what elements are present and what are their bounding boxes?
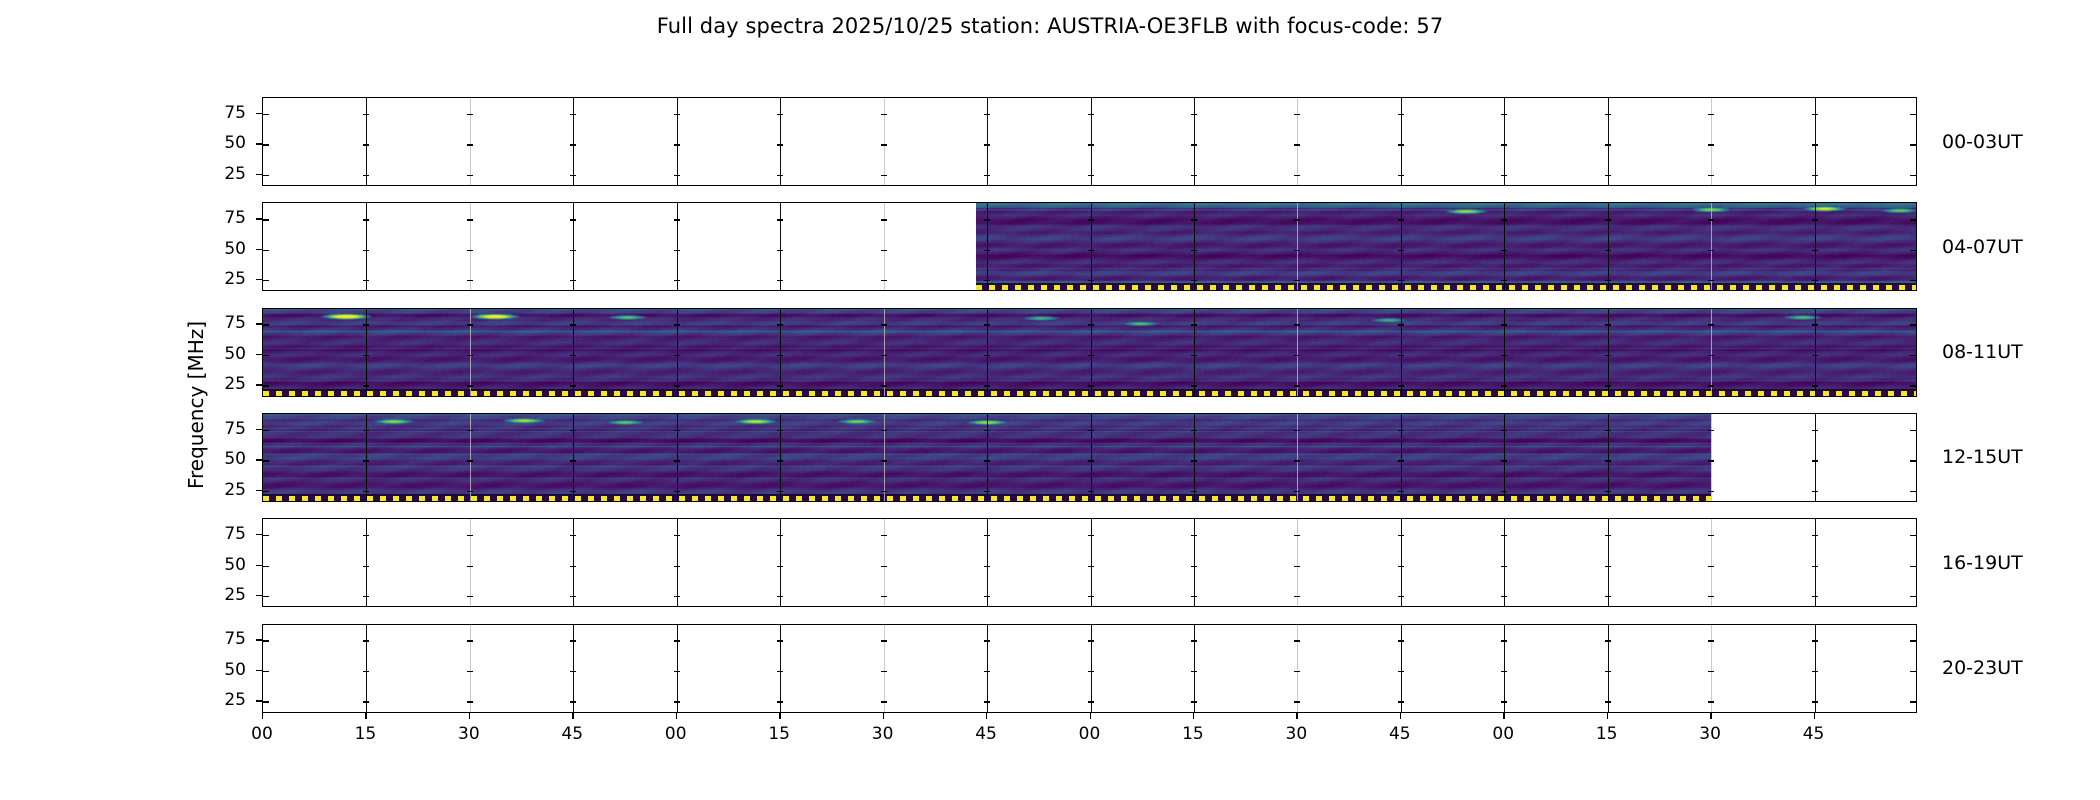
plot-axes (262, 202, 1917, 291)
grid-line-vertical (1504, 625, 1505, 712)
y-tick-inner (1910, 640, 1916, 641)
grid-tick-stub (1605, 430, 1611, 431)
y-tick-inner (1910, 114, 1916, 115)
grid-tick-stub (1294, 430, 1300, 431)
grid-tick-stub (674, 324, 680, 325)
grid-tick-stub (1191, 566, 1197, 567)
grid-tick-stub (1191, 460, 1197, 461)
grid-line-vertical (1815, 309, 1816, 396)
y-tick-mark (256, 595, 262, 596)
grid-tick-stub (1501, 596, 1507, 597)
grid-tick-stub (1294, 385, 1300, 386)
grid-line-vertical (1608, 203, 1609, 290)
y-tick-label: 75 (204, 524, 246, 544)
grid-tick-stub (1605, 671, 1611, 672)
grid-tick-stub (1501, 175, 1507, 176)
grid-tick-stub (1398, 250, 1404, 251)
grid-tick-stub (1398, 385, 1404, 386)
row-time-label: 12-15UT (1942, 446, 2023, 468)
grid-tick-stub (1708, 219, 1714, 220)
y-tick-inner (263, 324, 269, 325)
grid-tick-stub (570, 250, 576, 251)
grid-line-vertical (1608, 625, 1609, 712)
grid-line-vertical (987, 98, 988, 185)
grid-tick-stub (570, 385, 576, 386)
grid-tick-stub (1191, 535, 1197, 536)
x-tick-label: 15 (1596, 724, 1618, 744)
y-tick-label: 25 (204, 690, 246, 710)
grid-tick-stub (881, 144, 887, 145)
grid-tick-stub (1501, 385, 1507, 386)
grid-tick-stub (674, 535, 680, 536)
x-tick-label: 00 (1492, 724, 1514, 744)
grid-line-vertical (573, 98, 574, 185)
grid-line-vertical (677, 203, 678, 290)
grid-tick-stub (570, 114, 576, 115)
row-time-label: 08-11UT (1942, 341, 2023, 363)
grid-tick-stub (1501, 219, 1507, 220)
y-tick-mark (256, 429, 262, 430)
grid-line-vertical (677, 309, 678, 396)
grid-tick-stub (570, 701, 576, 702)
y-tick-inner (263, 566, 269, 567)
y-tick-mark (256, 670, 262, 671)
grid-tick-stub (570, 144, 576, 145)
grid-tick-stub (1294, 566, 1300, 567)
row-time-label: 20-23UT (1942, 657, 2023, 679)
grid-line-vertical (1297, 414, 1298, 501)
grid-tick-stub (1708, 596, 1714, 597)
grid-line-vertical (1608, 98, 1609, 185)
grid-tick-stub (1605, 280, 1611, 281)
grid-tick-stub (363, 144, 369, 145)
grid-tick-stub (984, 671, 990, 672)
x-tick-mark (572, 713, 573, 719)
grid-tick-stub (881, 324, 887, 325)
x-tick-mark (1400, 713, 1401, 719)
x-tick-mark (779, 713, 780, 719)
grid-tick-stub (363, 175, 369, 176)
y-tick-label: 50 (204, 555, 246, 575)
grid-line-vertical (884, 309, 885, 396)
grid-tick-stub (1605, 535, 1611, 536)
grid-tick-stub (984, 460, 990, 461)
y-tick-inner (263, 219, 269, 220)
grid-tick-stub (1501, 114, 1507, 115)
grid-tick-stub (881, 250, 887, 251)
grid-tick-stub (1294, 671, 1300, 672)
grid-tick-stub (777, 324, 783, 325)
y-tick-inner (1910, 144, 1916, 145)
grid-tick-stub (984, 324, 990, 325)
x-tick-mark (986, 713, 987, 719)
grid-tick-stub (1708, 640, 1714, 641)
grid-tick-stub (570, 460, 576, 461)
x-tick-label: 15 (1182, 724, 1204, 744)
grid-tick-stub (881, 596, 887, 597)
grid-tick-stub (570, 491, 576, 492)
grid-tick-stub (1294, 460, 1300, 461)
grid-tick-stub (674, 114, 680, 115)
spectrogram-row-12-15ut (262, 413, 1917, 502)
grid-line-vertical (1401, 625, 1402, 712)
grid-tick-stub (1294, 250, 1300, 251)
grid-tick-stub (363, 324, 369, 325)
grid-tick-stub (1294, 535, 1300, 536)
grid-tick-stub (1191, 250, 1197, 251)
y-tick-mark (256, 279, 262, 280)
grid-tick-stub (467, 596, 473, 597)
y-tick-inner (263, 355, 269, 356)
grid-tick-stub (1191, 219, 1197, 220)
grid-tick-stub (1812, 355, 1818, 356)
grid-tick-stub (1812, 385, 1818, 386)
grid-tick-stub (1088, 701, 1094, 702)
spectrogram-row-04-07ut (262, 202, 1917, 291)
x-tick-mark (1090, 713, 1091, 719)
grid-tick-stub (1812, 640, 1818, 641)
grid-tick-stub (467, 385, 473, 386)
grid-tick-stub (1398, 701, 1404, 702)
grid-tick-stub (674, 280, 680, 281)
y-tick-label: 75 (204, 419, 246, 439)
x-tick-mark (1607, 713, 1608, 719)
grid-line-vertical (1401, 98, 1402, 185)
grid-tick-stub (1088, 355, 1094, 356)
grid-tick-stub (777, 491, 783, 492)
grid-tick-stub (1605, 355, 1611, 356)
grid-tick-stub (363, 671, 369, 672)
grid-line-vertical (987, 203, 988, 290)
grid-line-vertical (780, 519, 781, 606)
y-tick-inner (1910, 701, 1916, 702)
grid-line-vertical (573, 414, 574, 501)
grid-tick-stub (1088, 640, 1094, 641)
calibration-dash-band (976, 285, 1917, 290)
y-tick-inner (263, 640, 269, 641)
grid-line-vertical (1608, 414, 1609, 501)
y-tick-inner (263, 114, 269, 115)
grid-tick-stub (1088, 385, 1094, 386)
grid-tick-stub (674, 701, 680, 702)
grid-tick-stub (881, 175, 887, 176)
grid-tick-stub (1501, 250, 1507, 251)
grid-tick-stub (984, 144, 990, 145)
grid-line-vertical (1815, 203, 1816, 290)
grid-line-vertical (1297, 309, 1298, 396)
y-tick-inner (1910, 250, 1916, 251)
grid-line-vertical (1194, 309, 1195, 396)
grid-tick-stub (1191, 280, 1197, 281)
grid-tick-stub (1708, 355, 1714, 356)
y-tick-mark (256, 700, 262, 701)
grid-tick-stub (1501, 144, 1507, 145)
grid-tick-stub (1294, 144, 1300, 145)
y-tick-mark (256, 323, 262, 324)
grid-line-vertical (677, 625, 678, 712)
grid-tick-stub (1605, 144, 1611, 145)
y-tick-inner (1910, 596, 1916, 597)
grid-tick-stub (1294, 219, 1300, 220)
grid-tick-stub (1812, 491, 1818, 492)
spectrogram-row-08-11ut (262, 308, 1917, 397)
y-tick-mark (256, 143, 262, 144)
grid-line-vertical (573, 309, 574, 396)
y-tick-label: 50 (204, 239, 246, 259)
grid-tick-stub (570, 671, 576, 672)
grid-tick-stub (674, 430, 680, 431)
grid-line-vertical (1608, 519, 1609, 606)
grid-tick-stub (1708, 671, 1714, 672)
grid-tick-stub (1398, 144, 1404, 145)
grid-tick-stub (467, 175, 473, 176)
x-tick-mark (1814, 713, 1815, 719)
grid-tick-stub (881, 701, 887, 702)
grid-tick-stub (570, 640, 576, 641)
grid-tick-stub (467, 430, 473, 431)
plot-axes (262, 97, 1917, 186)
y-tick-inner (1910, 460, 1916, 461)
plot-axes (262, 413, 1917, 502)
y-tick-inner (263, 144, 269, 145)
grid-tick-stub (1191, 701, 1197, 702)
x-tick-label: 45 (1389, 724, 1411, 744)
y-tick-mark (256, 384, 262, 385)
grid-tick-stub (1398, 324, 1404, 325)
grid-tick-stub (1191, 640, 1197, 641)
x-tick-label: 30 (1286, 724, 1308, 744)
grid-tick-stub (1088, 535, 1094, 536)
grid-tick-stub (1605, 175, 1611, 176)
grid-line-vertical (987, 309, 988, 396)
grid-tick-stub (674, 566, 680, 567)
grid-line-vertical (1711, 625, 1712, 712)
grid-tick-stub (1605, 460, 1611, 461)
y-tick-inner (1910, 280, 1916, 281)
y-tick-mark (256, 565, 262, 566)
grid-line-vertical (884, 203, 885, 290)
grid-tick-stub (881, 280, 887, 281)
grid-line-vertical (366, 414, 367, 501)
grid-tick-stub (467, 460, 473, 461)
grid-tick-stub (1605, 324, 1611, 325)
grid-line-vertical (1401, 309, 1402, 396)
grid-line-vertical (470, 203, 471, 290)
grid-line-vertical (1504, 519, 1505, 606)
grid-tick-stub (881, 219, 887, 220)
grid-tick-stub (1708, 566, 1714, 567)
x-tick-mark (262, 713, 263, 719)
grid-tick-stub (1812, 671, 1818, 672)
grid-tick-stub (1708, 701, 1714, 702)
grid-tick-stub (1191, 175, 1197, 176)
y-tick-inner (263, 491, 269, 492)
grid-line-vertical (470, 309, 471, 396)
grid-tick-stub (570, 219, 576, 220)
grid-tick-stub (1294, 114, 1300, 115)
grid-tick-stub (467, 701, 473, 702)
grid-line-vertical (573, 203, 574, 290)
grid-line-vertical (780, 625, 781, 712)
grid-tick-stub (984, 701, 990, 702)
y-tick-inner (1910, 491, 1916, 492)
grid-tick-stub (1605, 385, 1611, 386)
plot-axes (262, 308, 1917, 397)
grid-tick-stub (1501, 355, 1507, 356)
grid-tick-stub (1501, 566, 1507, 567)
grid-tick-stub (1191, 491, 1197, 492)
grid-tick-stub (674, 250, 680, 251)
grid-tick-stub (1191, 596, 1197, 597)
x-tick-label: 15 (768, 724, 790, 744)
grid-line-vertical (1711, 98, 1712, 185)
y-tick-mark (256, 534, 262, 535)
grid-tick-stub (1812, 324, 1818, 325)
y-tick-label: 50 (204, 133, 246, 153)
grid-tick-stub (881, 385, 887, 386)
grid-tick-stub (984, 535, 990, 536)
grid-tick-stub (984, 596, 990, 597)
grid-tick-stub (1501, 671, 1507, 672)
grid-tick-stub (984, 219, 990, 220)
grid-line-vertical (780, 203, 781, 290)
plot-axes (262, 518, 1917, 607)
y-tick-label: 25 (204, 164, 246, 184)
spectrogram-data (976, 203, 1917, 290)
grid-tick-stub (1294, 280, 1300, 281)
y-tick-inner (1910, 535, 1916, 536)
y-tick-mark (256, 459, 262, 460)
grid-tick-stub (674, 596, 680, 597)
y-tick-inner (1910, 566, 1916, 567)
grid-tick-stub (467, 640, 473, 641)
y-tick-mark (256, 490, 262, 491)
x-tick-mark (883, 713, 884, 719)
grid-tick-stub (1812, 430, 1818, 431)
grid-line-vertical (366, 98, 367, 185)
grid-tick-stub (984, 430, 990, 431)
grid-tick-stub (984, 355, 990, 356)
grid-tick-stub (363, 219, 369, 220)
grid-tick-stub (1605, 566, 1611, 567)
x-tick-label: 45 (561, 724, 583, 744)
row-time-label: 00-03UT (1942, 131, 2023, 153)
y-tick-inner (1910, 355, 1916, 356)
y-tick-inner (263, 460, 269, 461)
grid-line-vertical (366, 203, 367, 290)
y-tick-inner (263, 430, 269, 431)
grid-tick-stub (1398, 491, 1404, 492)
grid-tick-stub (674, 219, 680, 220)
grid-tick-stub (1501, 701, 1507, 702)
grid-tick-stub (777, 355, 783, 356)
grid-tick-stub (1088, 566, 1094, 567)
grid-tick-stub (1191, 385, 1197, 386)
grid-line-vertical (987, 625, 988, 712)
grid-line-vertical (1815, 98, 1816, 185)
y-tick-inner (263, 385, 269, 386)
grid-line-vertical (1401, 203, 1402, 290)
grid-tick-stub (1605, 596, 1611, 597)
grid-tick-stub (467, 250, 473, 251)
y-tick-inner (263, 175, 269, 176)
grid-tick-stub (363, 535, 369, 536)
grid-tick-stub (467, 324, 473, 325)
spectrogram-grid: 25507500-03UT25507504-07UT25507508-11UT2… (262, 97, 1917, 713)
grid-line-vertical (1194, 203, 1195, 290)
grid-tick-stub (1812, 175, 1818, 176)
grid-tick-stub (984, 250, 990, 251)
grid-line-vertical (1297, 519, 1298, 606)
x-tick-label: 30 (872, 724, 894, 744)
grid-tick-stub (570, 355, 576, 356)
grid-tick-stub (467, 535, 473, 536)
grid-tick-stub (570, 280, 576, 281)
grid-tick-stub (1398, 219, 1404, 220)
grid-tick-stub (1088, 280, 1094, 281)
grid-line-vertical (1091, 519, 1093, 606)
grid-tick-stub (1398, 596, 1404, 597)
grid-line-vertical (884, 625, 885, 712)
grid-tick-stub (467, 566, 473, 567)
y-tick-mark (256, 218, 262, 219)
grid-tick-stub (1088, 596, 1094, 597)
grid-tick-stub (1191, 355, 1197, 356)
y-tick-inner (1910, 385, 1916, 386)
y-tick-inner (263, 280, 269, 281)
grid-tick-stub (881, 114, 887, 115)
grid-line-vertical (1711, 309, 1712, 396)
grid-line-vertical (1194, 625, 1195, 712)
grid-tick-stub (777, 671, 783, 672)
grid-tick-stub (467, 114, 473, 115)
grid-tick-stub (1501, 430, 1507, 431)
grid-tick-stub (881, 535, 887, 536)
x-tick-mark (1503, 713, 1504, 719)
grid-tick-stub (1398, 114, 1404, 115)
grid-line-vertical (677, 98, 678, 185)
grid-tick-stub (1605, 701, 1611, 702)
grid-line-vertical (573, 625, 574, 712)
x-tick-mark (1296, 713, 1297, 719)
grid-line-vertical (573, 519, 574, 606)
grid-tick-stub (1708, 280, 1714, 281)
grid-tick-stub (1501, 535, 1507, 536)
grid-tick-stub (1398, 430, 1404, 431)
y-tick-label: 50 (204, 344, 246, 364)
grid-tick-stub (1088, 491, 1094, 492)
grid-tick-stub (1398, 460, 1404, 461)
grid-line-vertical (1711, 414, 1712, 501)
grid-tick-stub (674, 175, 680, 176)
grid-line-vertical (677, 414, 678, 501)
grid-tick-stub (1191, 324, 1197, 325)
grid-tick-stub (1088, 219, 1094, 220)
y-tick-inner (263, 596, 269, 597)
grid-tick-stub (363, 491, 369, 492)
grid-line-vertical (1401, 519, 1402, 606)
grid-tick-stub (570, 175, 576, 176)
grid-tick-stub (881, 460, 887, 461)
x-tick-label: 00 (1079, 724, 1101, 744)
grid-tick-stub (1294, 175, 1300, 176)
grid-tick-stub (1708, 491, 1714, 492)
grid-tick-stub (881, 491, 887, 492)
grid-tick-stub (881, 640, 887, 641)
spectrogram-row-00-03ut (262, 97, 1917, 186)
grid-line-vertical (1091, 309, 1093, 396)
y-tick-label: 50 (204, 660, 246, 680)
